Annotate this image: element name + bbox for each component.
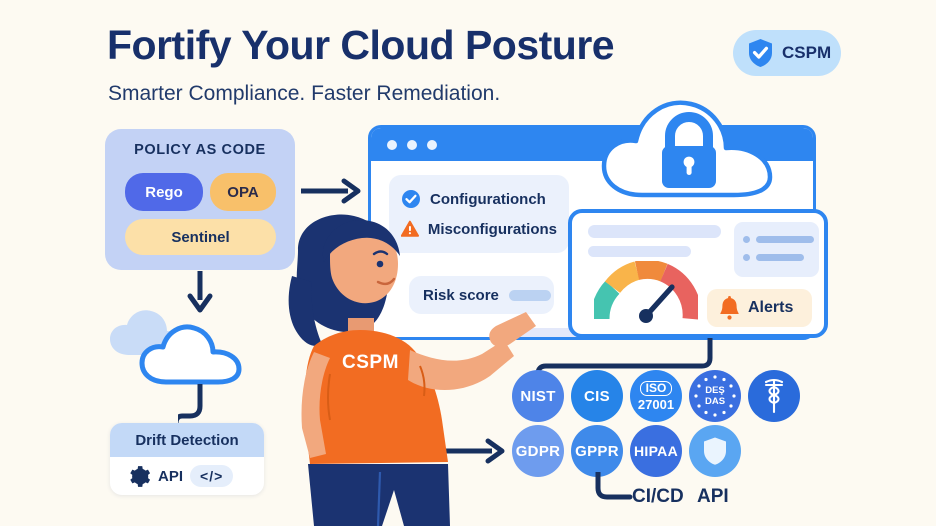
cspm-badge-label: CSPM (782, 43, 831, 63)
bell-icon (718, 296, 741, 321)
list-line-bar (756, 236, 814, 243)
badge-des-line1: DEŞ (705, 385, 725, 396)
scan-row-configuration[interactable]: Configurationch (401, 184, 557, 214)
dashboard-card: Alerts (568, 209, 828, 338)
gauge-icon (594, 261, 698, 323)
window-dot-maximize[interactable] (427, 140, 437, 150)
badge-iso-line2: 27001 (638, 397, 674, 412)
badge-des-das[interactable]: DEŞ DAS (689, 370, 741, 422)
badge-gppr[interactable]: GPPR (571, 425, 623, 477)
window-dot-close[interactable] (387, 140, 397, 150)
badge-hipaa-label: HIPAA (634, 443, 678, 459)
page-subtitle: Smarter Compliance. Faster Remediation. (108, 82, 500, 106)
connector-cloud-to-drift (178, 384, 218, 428)
window-dot-minimize[interactable] (407, 140, 417, 150)
alerts-label: Alerts (748, 299, 793, 317)
badge-des-line2: DAS (705, 396, 725, 407)
gear-icon[interactable] (128, 465, 151, 488)
shield-check-icon (747, 38, 774, 68)
badge-cis-label: CIS (584, 388, 610, 405)
drift-detection-card: Drift Detection API </> (110, 423, 264, 495)
badge-gppr-label: GPPR (575, 443, 619, 460)
drift-detection-title: Drift Detection (110, 423, 264, 457)
badge-cis[interactable]: CIS (571, 370, 623, 422)
dashboard-list-item (743, 236, 814, 243)
footer-label-cicd: CI/CD (632, 486, 684, 508)
badge-medical-caduceus[interactable] (748, 370, 800, 422)
cloud-lock-icon (598, 92, 780, 202)
drift-api-label: API (158, 468, 183, 485)
scan-row-configuration-label: Configurationch (430, 191, 546, 208)
footer-label-api: API (697, 486, 729, 508)
dashboard-list-item (743, 254, 804, 261)
cspm-badge: CSPM (733, 30, 841, 76)
alerts-pill[interactable]: Alerts (707, 289, 812, 327)
shield-icon (702, 436, 728, 466)
tshirt-label: CSPM (342, 352, 399, 374)
badge-iso-27001[interactable]: ISO 27001 (630, 370, 682, 422)
policy-pill-opa[interactable]: OPA (210, 173, 276, 211)
badge-hipaa[interactable]: HIPAA (630, 425, 682, 477)
badge-iso-line1: ISO (640, 381, 673, 396)
policy-pill-rego[interactable]: Rego (125, 173, 203, 211)
code-snippet-pill[interactable]: </> (190, 465, 233, 487)
cloud-icon (138, 316, 256, 388)
caduceus-icon (759, 377, 789, 415)
infographic-canvas: Fortify Your Cloud Posture Smarter Compl… (0, 0, 936, 526)
dashboard-subheading-bar (588, 246, 691, 257)
dashboard-heading-bar (588, 225, 721, 238)
list-bullet-icon (743, 254, 750, 261)
badge-shield[interactable] (689, 425, 741, 477)
list-line-bar (756, 254, 804, 261)
check-circle-icon (401, 189, 421, 209)
page-title: Fortify Your Cloud Posture (107, 22, 614, 69)
arrow-policy-to-browser (300, 178, 362, 204)
list-bullet-icon (743, 236, 750, 243)
dashboard-list-widget (734, 222, 819, 277)
connector-badges-to-cicd (592, 472, 636, 504)
policy-card-title: POLICY AS CODE (105, 142, 295, 158)
